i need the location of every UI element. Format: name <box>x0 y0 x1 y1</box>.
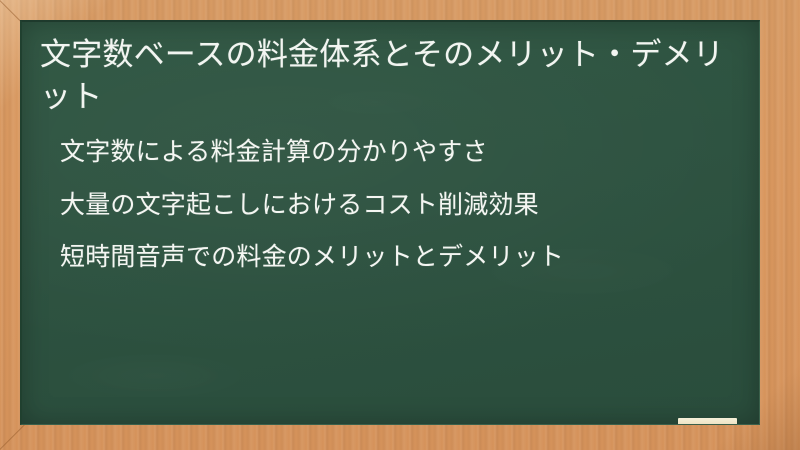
list-item: 大量の文字起こしにおけるコスト削減効果 <box>60 190 744 222</box>
page-title: 文字数ベースの料金体系とそのメリット・デメリット <box>36 34 730 117</box>
chalkboard-surface: 文字数ベースの料金体系とそのメリット・デメリット 文字数による料金計算の分かりや… <box>20 20 760 425</box>
list-item: 文字数による料金計算の分かりやすさ <box>60 137 744 169</box>
blackboard-scene: 文字数ベースの料金体系とそのメリット・デメリット 文字数による料金計算の分かりや… <box>0 0 800 450</box>
board-content: 文字数ベースの料金体系とそのメリット・デメリット 文字数による料金計算の分かりや… <box>22 22 760 274</box>
bullet-list: 文字数による料金計算の分かりやすさ 大量の文字起こしにおけるコスト削減効果 短時… <box>36 137 744 274</box>
chalk-stick-icon <box>678 418 737 425</box>
list-item: 短時間音声での料金のメリットとデメリット <box>60 242 744 274</box>
